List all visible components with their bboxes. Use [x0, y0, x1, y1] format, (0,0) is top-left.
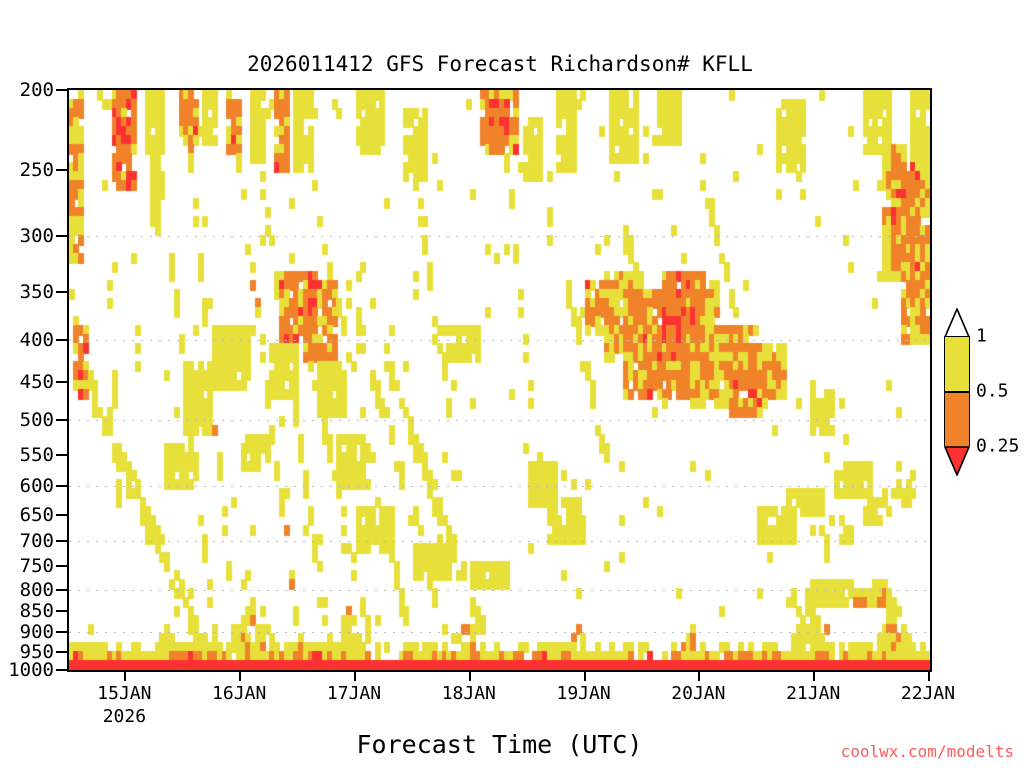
y-tick-mark	[56, 669, 67, 671]
x-tick-label: 16JAN	[212, 683, 266, 704]
colorbar-under-arrow	[944, 446, 970, 476]
y-tick-mark	[56, 631, 67, 633]
page-title: 2026011412 GFS Forecast Richardson# KFLL	[0, 52, 1000, 76]
y-tick-mark	[56, 565, 67, 567]
y-tick-mark	[56, 651, 67, 653]
y-tick-mark	[56, 169, 67, 171]
y-tick-label: 550	[20, 444, 54, 466]
y-tick-label: 400	[20, 329, 54, 351]
y-tick-label: 850	[20, 600, 54, 622]
x-tick-label: 21JAN	[786, 683, 840, 704]
colorbar-divider	[945, 391, 969, 393]
x-tick-mark	[698, 672, 700, 681]
colorbar-legend: 10.50.25	[938, 308, 1024, 484]
x-axis: 15JAN202616JAN17JAN18JAN19JAN20JAN21JAN2…	[67, 672, 932, 732]
watermark: coolwx.com/modelts	[841, 742, 1014, 761]
y-tick-mark	[56, 339, 67, 341]
y-tick-mark	[56, 419, 67, 421]
y-tick-label: 350	[20, 281, 54, 303]
x-tick-mark	[928, 672, 930, 681]
x-tick-label: 15JAN	[97, 683, 151, 704]
colorbar-tick-label: 0.5	[976, 381, 1009, 402]
x-tick-label: 22JAN	[901, 683, 955, 704]
x-tick-label: 17JAN	[327, 683, 381, 704]
y-tick-mark	[56, 610, 67, 612]
y-tick-mark	[56, 381, 67, 383]
colorbar-segment	[945, 392, 969, 447]
x-tick-mark	[354, 672, 356, 681]
y-tick-label: 1000	[8, 659, 54, 681]
y-tick-label: 700	[20, 530, 54, 552]
y-tick-label: 650	[20, 504, 54, 526]
y-tick-label: 200	[20, 79, 54, 101]
y-tick-mark	[56, 454, 67, 456]
x-tick-mark	[813, 672, 815, 681]
y-tick-label: 300	[20, 225, 54, 247]
y-tick-mark	[56, 589, 67, 591]
y-tick-label: 450	[20, 371, 54, 393]
colorbar-segment	[945, 337, 969, 392]
y-tick-label: 250	[20, 159, 54, 181]
x-tick-sublabel: 2026	[103, 706, 146, 727]
x-tick-mark	[469, 672, 471, 681]
x-tick-mark	[239, 672, 241, 681]
heatmap-canvas	[69, 90, 930, 670]
x-axis-title: Forecast Time (UTC)	[67, 730, 932, 759]
y-tick-label: 800	[20, 579, 54, 601]
colorbar-body	[944, 336, 970, 446]
y-tick-label: 600	[20, 475, 54, 497]
colorbar-over-arrow	[944, 308, 970, 338]
y-tick-mark	[56, 89, 67, 91]
x-tick-label: 18JAN	[442, 683, 496, 704]
x-tick-label: 20JAN	[671, 683, 725, 704]
y-tick-label: 750	[20, 555, 54, 577]
plot-area	[67, 88, 932, 672]
y-tick-mark	[56, 540, 67, 542]
colorbar-tick-label: 0.25	[976, 436, 1019, 457]
chart-stage: 2026011412 GFS Forecast Richardson# KFLL…	[0, 0, 1024, 768]
x-tick-mark	[584, 672, 586, 681]
y-tick-mark	[56, 291, 67, 293]
x-tick-label: 19JAN	[557, 683, 611, 704]
x-tick-mark	[124, 672, 126, 681]
y-tick-mark	[56, 235, 67, 237]
y-tick-label: 500	[20, 409, 54, 431]
y-tick-mark	[56, 485, 67, 487]
y-tick-mark	[56, 514, 67, 516]
colorbar-tick-label: 1	[976, 326, 987, 347]
y-axis: 2002503003504004505005506006507007508008…	[0, 88, 67, 672]
